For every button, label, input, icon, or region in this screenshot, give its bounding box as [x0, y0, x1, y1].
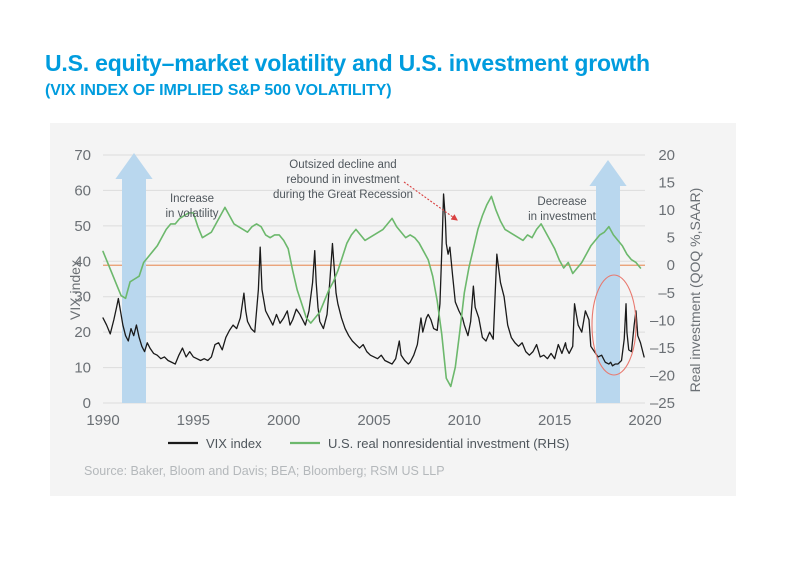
annotation-pointer	[404, 182, 457, 220]
x-tick-label: 2015	[538, 412, 571, 429]
y2-tick-label: –25	[650, 395, 675, 412]
x-tick-label: 2000	[267, 412, 300, 429]
legend-label-0: VIX index	[206, 436, 262, 451]
legend-label-1: U.S. real nonresidential investment (RHS…	[328, 436, 569, 451]
y2-tick-label: –20	[650, 367, 675, 384]
source-note: Source: Baker, Bloom and Davis; BEA; Blo…	[84, 464, 445, 478]
y2-tick-label: –10	[650, 312, 675, 329]
chart-legend: VIX indexU.S. real nonresidential invest…	[168, 436, 569, 451]
annotation-great-recession: Outsized decline andrebound in investmen…	[273, 159, 413, 201]
y2-tick-label: 5	[667, 230, 675, 247]
annotation-increase-in-volatility: Increasein volatility	[165, 193, 218, 220]
x-tick-label: 2005	[357, 412, 390, 429]
series-line-1	[103, 196, 640, 386]
y2-tick-label: 15	[658, 175, 675, 192]
chart-page: U.S. equity–market volatility and U.S. i…	[0, 0, 786, 576]
y-tick-label: 20	[74, 324, 91, 341]
y-axis-title: VIX index	[67, 260, 83, 320]
y2-tick-label: –5	[658, 285, 675, 302]
x-tick-label: 2010	[448, 412, 481, 429]
y2-tick-label: 20	[658, 147, 675, 164]
x-tick-label: 2020	[628, 412, 661, 429]
recession-pointer-arrow	[404, 182, 457, 220]
annotation-decrease-in-investment: Decreasein investment	[528, 196, 597, 223]
chart-annotations: Increasein volatilityOutsized decline an…	[165, 159, 596, 223]
y-tick-label: 50	[74, 218, 91, 235]
y-tick-label: 10	[74, 360, 91, 377]
chart-svg: 010203040506070 –25–20–15–10–505101520 1…	[0, 0, 786, 576]
y2-axis-tick-labels: –25–20–15–10–505101520	[650, 147, 675, 412]
x-tick-label: 1995	[177, 412, 210, 429]
investment-decrease-arrow	[589, 160, 626, 403]
y-tick-label: 0	[83, 395, 91, 412]
y2-tick-label: 10	[658, 202, 675, 219]
y-tick-label: 70	[74, 147, 91, 164]
y-tick-label: 60	[74, 182, 91, 199]
y2-tick-label: 0	[667, 257, 675, 274]
x-axis-tick-labels: 1990199520002005201020152020	[86, 412, 661, 429]
x-tick-label: 1990	[86, 412, 119, 429]
y2-tick-label: –15	[650, 340, 675, 357]
y2-axis-title: Real investment (QOQ %,SAAR)	[687, 188, 703, 393]
